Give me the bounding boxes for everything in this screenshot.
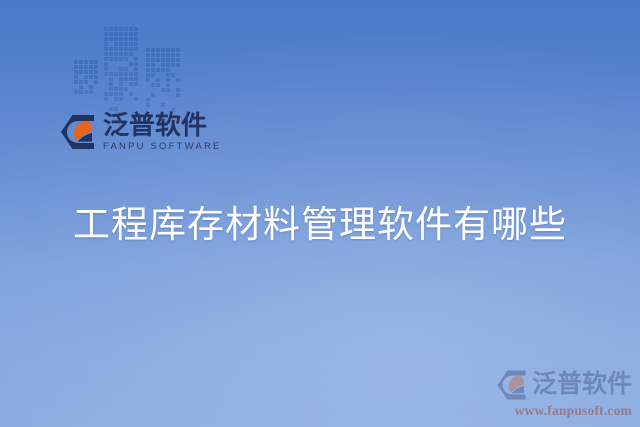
brand-wordmark: 泛普软件 FANPU SOFTWARE bbox=[103, 112, 222, 152]
brand-name-en: FANPU SOFTWARE bbox=[103, 142, 222, 152]
page-title: 工程库存材料管理软件有哪些 bbox=[0, 204, 640, 248]
brand-name-cn: 泛普软件 bbox=[103, 112, 222, 138]
watermark-url: www.fanpusoft.com bbox=[484, 404, 632, 418]
watermark: 泛普软件 www.fanpusoft.com bbox=[484, 368, 632, 418]
poster-canvas: 泛普软件 FANPU SOFTWARE 工程库存材料管理软件有哪些 泛普软件 w… bbox=[0, 0, 640, 427]
watermark-logo-row: 泛普软件 bbox=[484, 368, 632, 402]
fanpu-swoosh-logo-icon bbox=[58, 112, 98, 152]
brand-logo: 泛普软件 FANPU SOFTWARE bbox=[58, 112, 222, 152]
watermark-name-cn: 泛普软件 bbox=[532, 372, 632, 397]
fanpu-swoosh-watermark-icon bbox=[495, 368, 529, 402]
pixel-buildings-decoration-icon bbox=[74, 27, 196, 119]
